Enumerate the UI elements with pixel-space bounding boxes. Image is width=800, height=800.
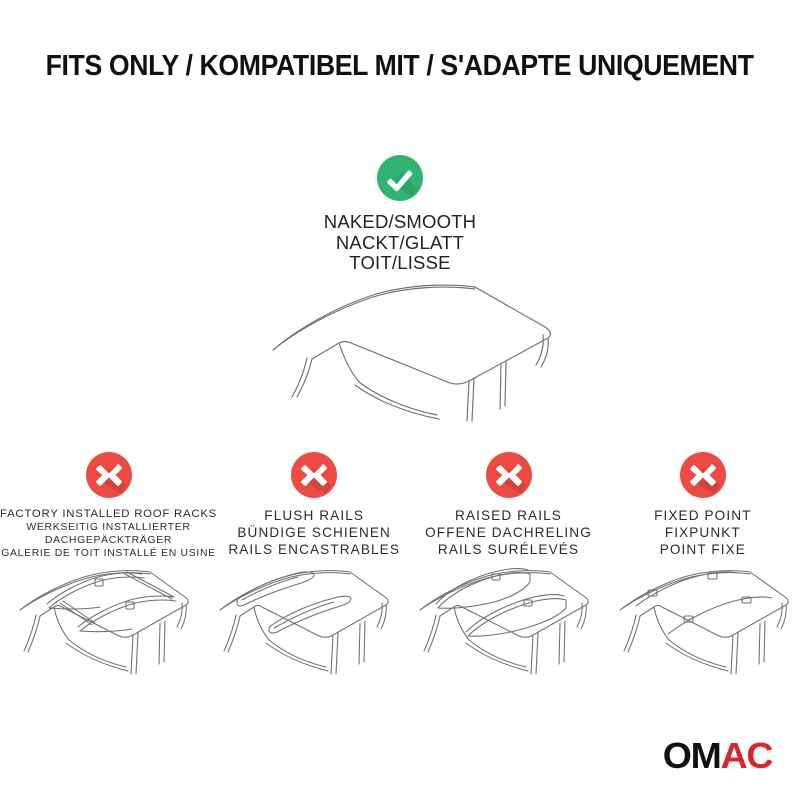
excluded-item-fixed-point: FIXED POINT FIXPUNKT POINT FIXE [606, 452, 800, 558]
x-circle-icon [86, 452, 132, 498]
excluded-label-line-1: FIXED POINT [654, 507, 751, 524]
excluded-label-line-1: FACTORY INSTALLED ROOF RACKS [0, 507, 217, 521]
approved-label-line-1: NAKED/SMOOTH [0, 212, 800, 233]
excluded-label: FLUSH RAILS BÜNDIGE SCHIENEN RAILS ENCAS… [228, 507, 400, 558]
excluded-item-factory-installed-roof-racks: FACTORY INSTALLED ROOF RACKS WERKSEITIG … [0, 452, 217, 560]
approved-label-line-2: NACKT/GLATT [0, 233, 800, 254]
car-roof-factory-rack-illustration [0, 552, 200, 692]
approved-label: NAKED/SMOOTH NACKT/GLATT TOIT/LISSE [0, 212, 800, 274]
x-circle-icon [680, 452, 726, 498]
excluded-illustrations-row [0, 552, 800, 692]
excluded-label-line-2: OFFENE DACHRELING [425, 524, 592, 541]
omac-logo: OMAC [663, 738, 772, 774]
excluded-item-flush-rails: FLUSH RAILS BÜNDIGE SCHIENEN RAILS ENCAS… [217, 452, 411, 558]
excluded-section: FACTORY INSTALLED ROOF RACKS WERKSEITIG … [0, 452, 800, 560]
excluded-label-line-3: DACHGEPÄCKTRÄGER [0, 534, 217, 547]
x-circle-icon [486, 452, 532, 498]
approved-label-line-3: TOIT/LISSE [0, 253, 800, 274]
excluded-label-line-2: WERKSEITIG INSTALLIERTER [0, 521, 217, 534]
page-title-text: FITS ONLY / KOMPATIBEL MIT / S'ADAPTE UN… [46, 50, 754, 83]
excluded-label: FIXED POINT FIXPUNKT POINT FIXE [654, 507, 751, 558]
omac-logo-dark-text: OM [663, 735, 721, 776]
car-roof-flush-rails-illustration [200, 552, 400, 692]
excluded-label: RAISED RAILS OFFENE DACHRELING RAILS SUR… [425, 507, 592, 558]
x-circle-icon [291, 452, 337, 498]
car-roof-smooth-illustration [255, 275, 575, 425]
excluded-item-raised-rails: RAISED RAILS OFFENE DACHRELING RAILS SUR… [411, 452, 605, 558]
page-title: FITS ONLY / KOMPATIBEL MIT / S'ADAPTE UN… [0, 50, 800, 83]
excluded-label-line-2: BÜNDIGE SCHIENEN [228, 524, 400, 541]
excluded-label-line-1: RAISED RAILS [425, 507, 592, 524]
excluded-label-line-1: FLUSH RAILS [228, 507, 400, 524]
excluded-label-line-2: FIXPUNKT [654, 524, 751, 541]
approved-section: NAKED/SMOOTH NACKT/GLATT TOIT/LISSE [0, 155, 800, 274]
check-circle-icon [377, 155, 423, 201]
omac-logo-accent-text: AC [720, 735, 772, 776]
car-roof-raised-rails-illustration [400, 552, 600, 692]
approved-icon-container [0, 155, 800, 201]
car-roof-fixed-point-illustration [600, 552, 800, 692]
